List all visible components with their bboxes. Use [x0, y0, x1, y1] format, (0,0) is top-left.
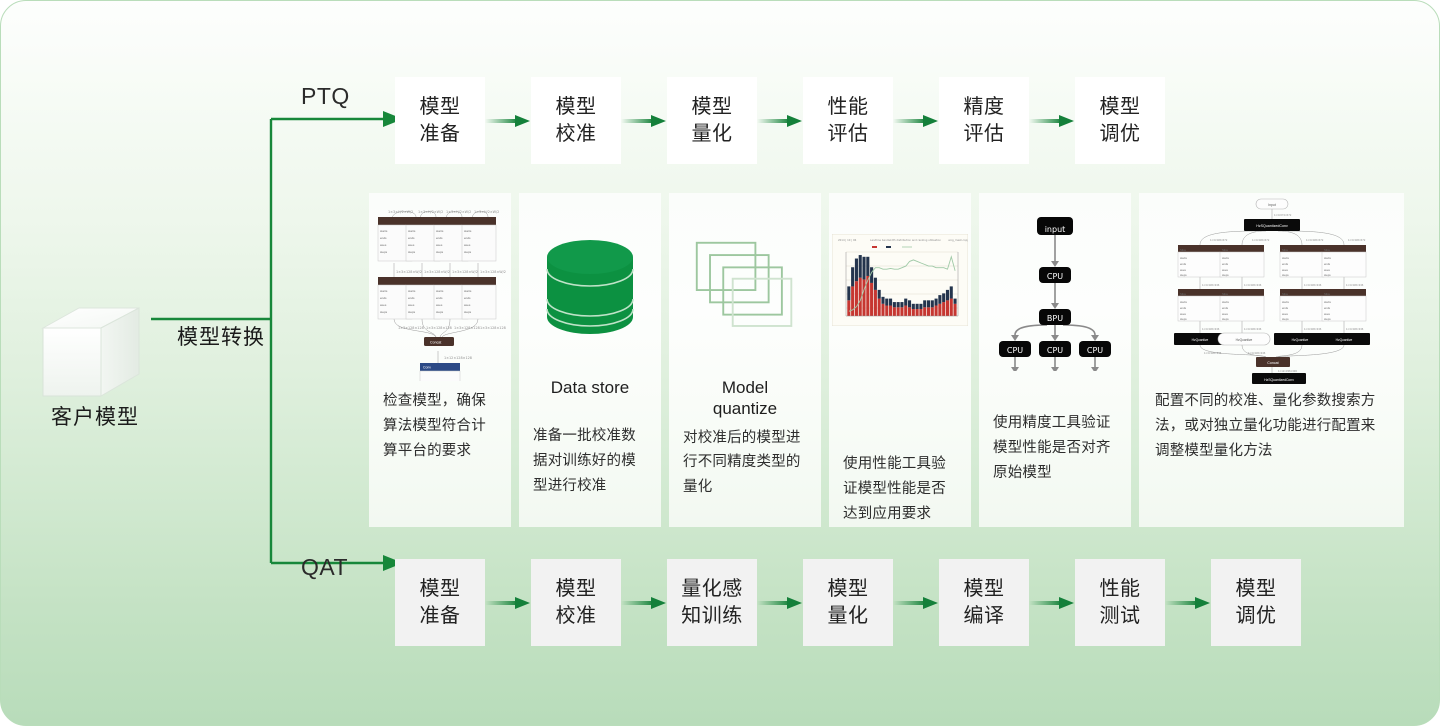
svg-text:1×3×336×336: 1×3×336×336	[1204, 351, 1222, 355]
svg-text:axes: axes	[1282, 312, 1289, 316]
svg-text:steps: steps	[1282, 273, 1289, 277]
svg-text:1×3×336×336: 1×3×336×336	[1304, 327, 1322, 331]
svg-text:Slice: Slice	[1222, 248, 1229, 252]
svg-text:steps: steps	[1180, 317, 1187, 321]
svg-text:steps: steps	[380, 310, 388, 314]
svg-text:1×3×H/2×W/2: 1×3×H/2×W/2	[474, 210, 499, 214]
step-line-2: 评估	[828, 121, 869, 148]
step-line-1: 模型	[692, 94, 733, 121]
svg-text:steps: steps	[464, 310, 472, 314]
flow-arrow-icon	[757, 595, 803, 611]
panel-description: 配置不同的校准、量化参数搜索方法，或对独立量化功能进行配置来调整模型量化方法	[1139, 389, 1404, 464]
step-box[interactable]: 模型 校准	[531, 77, 621, 164]
step-line-2: 准备	[420, 603, 461, 630]
step-box[interactable]: 模型 校准	[531, 559, 621, 646]
svg-text:1×3×672×672: 1×3×672×672	[1274, 213, 1292, 217]
svg-text:BPU: BPU	[1047, 314, 1063, 323]
svg-text:1×3×336×672: 1×3×336×672	[1210, 238, 1228, 242]
step-box[interactable]: 模型 调优	[1211, 559, 1301, 646]
svg-text:ends: ends	[1282, 262, 1289, 266]
svg-text:unig_mazz.copy.xls: unig_mazz.copy.xls	[948, 238, 968, 242]
svg-text:CPU: CPU	[1007, 346, 1023, 355]
svg-text:axes: axes	[380, 303, 387, 307]
flow-arrow-icon	[893, 113, 939, 129]
diagram-canvas: 客户模型 模型转换 PTQ QAT 模型 准备 模型 校准 模型	[0, 0, 1440, 726]
svg-text:Concat: Concat	[1267, 361, 1278, 365]
svg-text:starts: starts	[464, 289, 472, 293]
step-line-1: 模型	[1236, 576, 1277, 603]
svg-text:input: input	[1045, 225, 1066, 234]
svg-text:axes: axes	[1180, 268, 1187, 272]
svg-text:steps: steps	[1222, 273, 1229, 277]
svg-text:1×3×336×672: 1×3×336×672	[1348, 238, 1366, 242]
svg-text:1×12×336×336: 1×12×336×336	[1278, 369, 1297, 373]
svg-text:1×3×128×128: 1×3×128×128	[398, 326, 424, 330]
svg-text:starts: starts	[408, 289, 416, 293]
svg-text:steps: steps	[436, 310, 444, 314]
svg-text:axes: axes	[1324, 312, 1331, 316]
cube-icon	[39, 304, 149, 404]
step-box[interactable]: 模型 准备	[395, 559, 485, 646]
step-line-1: 量化感	[681, 576, 743, 603]
svg-text:1×3×H/2×W/2: 1×3×H/2×W/2	[446, 210, 471, 214]
step-box[interactable]: 性能 测试	[1075, 559, 1165, 646]
svg-text:HzSQuantizedConv: HzSQuantizedConv	[1264, 378, 1294, 382]
branch-label-ptq: PTQ	[301, 83, 350, 110]
svg-text:ends: ends	[1222, 306, 1229, 310]
svg-text:ends: ends	[408, 236, 415, 240]
step-box[interactable]: 模型 量化	[803, 559, 893, 646]
detail-panel: Input HzSQuantizedConv SliceSl	[1139, 193, 1404, 527]
svg-text:steps: steps	[1282, 317, 1289, 321]
svg-text:1×3×336×336: 1×3×336×336	[1248, 351, 1266, 355]
svg-text:1×3×336×336: 1×3×336×336	[1202, 327, 1220, 331]
svg-text:1×3×128×W/2: 1×3×128×W/2	[452, 270, 478, 274]
svg-text:1×3×128×W/2: 1×3×128×W/2	[396, 270, 422, 274]
step-box[interactable]: 性能 评估	[803, 77, 893, 164]
svg-text:starts: starts	[1282, 300, 1289, 304]
svg-text:1×12×128×128: 1×12×128×128	[444, 356, 472, 360]
svg-text:starts: starts	[1222, 300, 1229, 304]
svg-text:Slice: Slice	[1324, 292, 1331, 296]
panel-description: 对校准后的模型进行不同精度类型的量化	[669, 426, 821, 501]
layers-stack-icon	[669, 193, 821, 389]
customer-model-cube	[39, 304, 149, 404]
svg-text:1×3×336×672: 1×3×336×672	[1252, 238, 1270, 242]
step-line-1: 模型	[420, 576, 461, 603]
flow-arrow-icon	[1029, 595, 1075, 611]
svg-text:starts: starts	[408, 229, 416, 233]
svg-text:ends: ends	[1180, 262, 1187, 266]
svg-text:starts: starts	[436, 229, 444, 233]
step-line-2: 评估	[964, 121, 1005, 148]
svg-text:Landline bandwidth distributio: Landline bandwidth distribution and rank…	[870, 238, 941, 242]
svg-text:1×3×336×336: 1×3×336×336	[1346, 283, 1364, 287]
flow-arrow-icon	[485, 595, 531, 611]
svg-text:Slice: Slice	[1180, 292, 1187, 296]
step-box[interactable]: 模型 编译	[939, 559, 1029, 646]
flow-arrow-icon	[893, 595, 939, 611]
svg-text:steps: steps	[408, 250, 416, 254]
svg-text:steps: steps	[1222, 317, 1229, 321]
flow-arrow-icon	[621, 595, 667, 611]
detail-panel: 2014 | 10 | 06Landline bandwidth distrib…	[829, 193, 971, 527]
svg-text:starts: starts	[1324, 256, 1331, 260]
svg-text:Input: Input	[1268, 203, 1276, 207]
svg-text:Slice: Slice	[1222, 292, 1229, 296]
svg-text:HzQuantize: HzQuantize	[1235, 338, 1252, 342]
step-line-1: 模型	[1100, 94, 1141, 121]
svg-text:1×3×H/2×W/2: 1×3×H/2×W/2	[388, 210, 413, 214]
step-line-1: 模型	[556, 94, 597, 121]
step-line-2: 调优	[1236, 603, 1277, 630]
flow-arrow-icon	[485, 113, 531, 129]
svg-text:HzQuantize: HzQuantize	[1335, 338, 1352, 342]
svg-text:starts: starts	[1282, 256, 1289, 260]
svg-text:axes: axes	[408, 303, 415, 307]
step-line-1: 模型	[556, 576, 597, 603]
svg-text:axes: axes	[408, 243, 415, 247]
svg-text:axes: axes	[1222, 312, 1229, 316]
trunk-label: 模型转换	[156, 321, 286, 351]
svg-text:ends: ends	[436, 296, 443, 300]
svg-text:starts: starts	[380, 229, 388, 233]
flow-arrow-icon	[757, 113, 803, 129]
svg-text:CPU: CPU	[1047, 346, 1063, 355]
svg-text:ends: ends	[1222, 262, 1229, 266]
svg-text:steps: steps	[1324, 273, 1331, 277]
model-graph-icon: 1×3×H/2×W/21×3×H/2×W/2 1×3×H/2×W/21×3×H/…	[369, 193, 511, 389]
qat-flow-row: 模型 准备 模型 校准 量化感 知训练 模型 量化 模型 编译	[395, 559, 1301, 646]
step-line-1: 模型	[964, 576, 1005, 603]
svg-text:ends: ends	[380, 236, 387, 240]
detail-panel: 1×3×H/2×W/21×3×H/2×W/2 1×3×H/2×W/21×3×H/…	[369, 193, 511, 527]
step-line-2: 测试	[1100, 603, 1141, 630]
detail-panel: Model quantize 对校准后的模型进行不同精度类型的量化	[669, 193, 821, 527]
svg-text:CPU: CPU	[1047, 272, 1063, 281]
svg-text:Slice: Slice	[1282, 248, 1289, 252]
panel-description: 准备一批校准数据对训练好的模型进行校准	[519, 424, 661, 499]
svg-text:1×3×128×128: 1×3×128×128	[426, 326, 452, 330]
ptq-flow-row: 模型 准备 模型 校准 模型 量化 性能 评估 精度 评估	[395, 77, 1165, 164]
step-box[interactable]: 模型 准备	[395, 77, 485, 164]
svg-text:ends: ends	[436, 236, 443, 240]
svg-text:2014 | 10 | 06: 2014 | 10 | 06	[838, 238, 857, 242]
svg-text:1×3×336×336: 1×3×336×336	[1244, 327, 1262, 331]
step-line-2: 量化	[828, 603, 869, 630]
step-box[interactable]: 量化感 知训练	[667, 559, 757, 646]
step-line-1: 精度	[964, 94, 1005, 121]
svg-text:Concat: Concat	[430, 341, 441, 345]
svg-text:axes: axes	[1324, 268, 1331, 272]
panel-description: 使用性能工具验证模型性能是否达到应用要求	[829, 452, 971, 527]
svg-text:starts: starts	[436, 289, 444, 293]
svg-text:axes: axes	[1180, 312, 1187, 316]
svg-text:starts: starts	[1180, 256, 1187, 260]
large-model-graph-icon: Input HzSQuantizedConv SliceSl	[1139, 193, 1404, 389]
svg-text:1×3×336×336: 1×3×336×336	[1304, 283, 1322, 287]
svg-text:CPU: CPU	[1087, 346, 1103, 355]
step-line-2: 知训练	[681, 603, 743, 630]
step-line-2: 量化	[692, 121, 733, 148]
step-line-1: 性能	[828, 94, 869, 121]
svg-text:HzQuantize: HzQuantize	[1191, 338, 1208, 342]
svg-text:HzSQuantizedConv: HzSQuantizedConv	[1256, 224, 1288, 228]
step-line-2: 调优	[1100, 121, 1141, 148]
step-line-2: 校准	[556, 603, 597, 630]
step-box[interactable]: 模型 量化	[667, 77, 757, 164]
svg-text:axes: axes	[380, 243, 387, 247]
svg-text:starts: starts	[464, 229, 472, 233]
svg-text:starts: starts	[1180, 300, 1187, 304]
svg-text:axes: axes	[464, 243, 471, 247]
svg-text:axes: axes	[464, 303, 471, 307]
panel-caption-line-2: quantize	[713, 398, 777, 419]
svg-text:1×3×128×W/2: 1×3×128×W/2	[424, 270, 450, 274]
svg-text:Slice: Slice	[1282, 292, 1289, 296]
step-line-1: 性能	[1100, 576, 1141, 603]
svg-text:1×3×128×W/2: 1×3×128×W/2	[480, 270, 506, 274]
svg-text:steps: steps	[1180, 273, 1187, 277]
svg-text:steps: steps	[436, 250, 444, 254]
device-tree-icon: input CPU BPU CPUCPUCPU outputoutputoutp…	[979, 193, 1131, 389]
detail-panel: input CPU BPU CPUCPUCPU outputoutputoutp…	[979, 193, 1131, 527]
svg-text:starts: starts	[1324, 300, 1331, 304]
step-line-2: 准备	[420, 121, 461, 148]
branch-label-qat: QAT	[301, 554, 348, 581]
svg-text:1×3×336×672: 1×3×336×672	[1306, 238, 1324, 242]
svg-text:Slice: Slice	[1324, 248, 1331, 252]
svg-text:Slice: Slice	[1180, 248, 1187, 252]
svg-text:axes: axes	[1222, 268, 1229, 272]
svg-text:steps: steps	[380, 250, 388, 254]
svg-text:ends: ends	[1180, 306, 1187, 310]
database-cylinder-icon	[519, 193, 661, 389]
svg-text:axes: axes	[1282, 268, 1289, 272]
svg-text:ends: ends	[408, 296, 415, 300]
svg-text:1×3×H/2×W/2: 1×3×H/2×W/2	[418, 210, 443, 214]
svg-text:steps: steps	[1324, 317, 1331, 321]
svg-text:1×3×128×128: 1×3×128×128	[454, 326, 480, 330]
svg-text:ends: ends	[1324, 306, 1331, 310]
panel-description: 使用精度工具验证模型性能是否对齐原始模型	[979, 411, 1131, 486]
flow-arrow-icon	[621, 113, 667, 129]
svg-text:1×3×336×336: 1×3×336×336	[1346, 327, 1364, 331]
svg-text:ends: ends	[464, 236, 471, 240]
detail-panel: Data store 准备一批校准数据对训练好的模型进行校准	[519, 193, 661, 527]
svg-text:ends: ends	[380, 296, 387, 300]
svg-text:ends: ends	[464, 296, 471, 300]
step-box[interactable]: 模型 调优	[1075, 77, 1165, 164]
step-line-2: 编译	[964, 603, 1005, 630]
step-line-1: 模型	[828, 576, 869, 603]
svg-text:steps: steps	[408, 310, 416, 314]
svg-text:HzQuantize: HzQuantize	[1291, 338, 1308, 342]
step-line-1: 模型	[420, 94, 461, 121]
svg-text:Conv: Conv	[423, 366, 431, 370]
panel-description: 检查模型，确保算法模型符合计算平台的要求	[369, 389, 511, 464]
svg-text:axes: axes	[436, 243, 443, 247]
svg-text:steps: steps	[464, 250, 472, 254]
detail-panel-strip: 1×3×H/2×W/21×3×H/2×W/2 1×3×H/2×W/21×3×H/…	[369, 193, 1404, 527]
step-box[interactable]: 精度 评估	[939, 77, 1029, 164]
svg-text:ends: ends	[1324, 262, 1331, 266]
svg-text:axes: axes	[436, 303, 443, 307]
svg-text:starts: starts	[1222, 256, 1229, 260]
svg-text:ends: ends	[1282, 306, 1289, 310]
svg-text:starts: starts	[380, 289, 388, 293]
svg-text:1×3×336×336: 1×3×336×336	[1244, 283, 1262, 287]
bar-chart-icon: 2014 | 10 | 06Landline bandwidth distrib…	[829, 193, 971, 366]
step-line-2: 校准	[556, 121, 597, 148]
flow-arrow-icon	[1029, 113, 1075, 129]
svg-text:1×3×128×128: 1×3×128×128	[480, 326, 506, 330]
flow-arrow-icon	[1165, 595, 1211, 611]
svg-text:1×3×336×336: 1×3×336×336	[1202, 283, 1220, 287]
